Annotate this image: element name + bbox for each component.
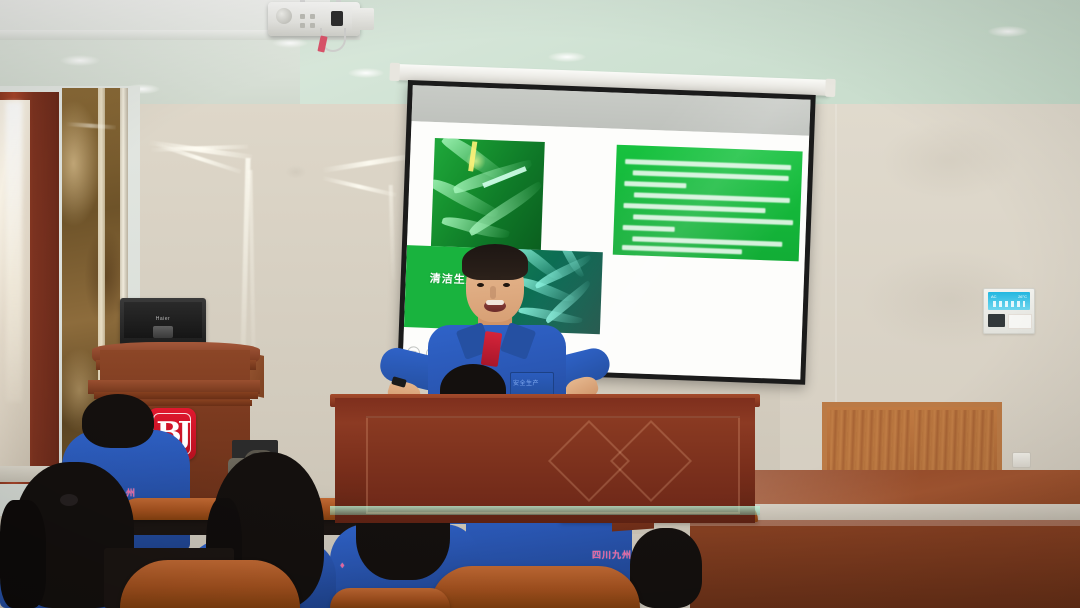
monitor-logo-icon xyxy=(153,326,173,338)
uniform-back-logo: ♦ xyxy=(340,560,346,570)
monitor-screen: Haier xyxy=(124,302,202,338)
ac-secondary-display xyxy=(988,314,1005,327)
presenter-pocket-text: 安全生产 xyxy=(513,378,539,387)
downlight-icon xyxy=(60,55,100,66)
screen-casing-end-cap xyxy=(825,79,836,97)
wall-power-socket[interactable] xyxy=(1012,452,1031,468)
auditorium-chair[interactable] xyxy=(120,560,300,608)
downlight-icon xyxy=(272,38,308,48)
presenter-teeth xyxy=(486,300,504,305)
downlight-icon xyxy=(548,52,586,62)
monitor-brand-label: Haier xyxy=(124,316,202,322)
ac-display-label: AC xyxy=(991,294,997,299)
podium-monitor[interactable]: Haier xyxy=(120,298,206,346)
audience-hair xyxy=(82,394,154,448)
presenter-hair xyxy=(462,244,528,280)
downlight-icon xyxy=(988,26,1028,37)
window-daylight-glow xyxy=(6,102,22,402)
conference-room-scene: 清洁生产措施 xyxy=(0,0,1080,608)
projector-lens-icon xyxy=(276,8,292,24)
projector-vent xyxy=(300,14,305,19)
screen-casing-end-cap xyxy=(389,63,400,81)
stage-riser xyxy=(690,520,1080,608)
ac-display-temp: 26°C xyxy=(1018,294,1027,299)
projector-vent xyxy=(300,23,305,28)
auditorium-chair[interactable] xyxy=(330,588,450,608)
air-conditioner-control-panel[interactable]: AC 26°C xyxy=(983,288,1035,334)
presenter-eyebrow xyxy=(500,276,516,279)
downlight-icon xyxy=(348,68,384,78)
slide-text-box xyxy=(613,145,803,262)
uniform-back-logo: 四川九州 xyxy=(592,548,632,561)
presenter-eye xyxy=(477,283,484,287)
ac-label-plate xyxy=(1008,314,1032,329)
wall-texture-patch xyxy=(285,165,307,179)
projector-connector xyxy=(331,11,343,26)
audience-hair xyxy=(630,528,702,608)
ac-display: AC 26°C xyxy=(988,292,1030,310)
presenter-eye xyxy=(503,283,510,287)
slide-photo-bamboo xyxy=(431,138,545,250)
wall-texture-patch xyxy=(880,120,1020,200)
auditorium-chair[interactable] xyxy=(430,566,640,608)
projector-lens-housing xyxy=(352,8,374,30)
audience-hair-strand xyxy=(0,500,46,608)
hair-tie-icon xyxy=(60,494,78,506)
projector-vent xyxy=(310,14,315,19)
projector-vent xyxy=(310,23,315,28)
presenter-eyebrow xyxy=(474,276,490,279)
rostrum-glass-top xyxy=(330,506,760,515)
